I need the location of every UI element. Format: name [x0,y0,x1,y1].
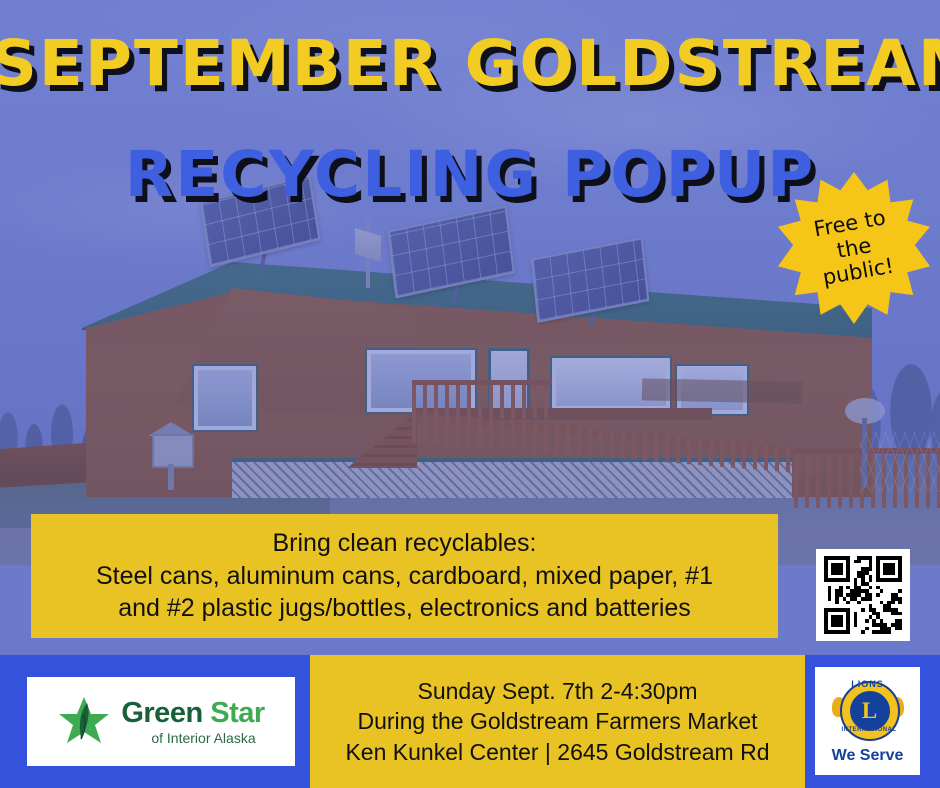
green-star-leaf-icon [57,695,111,749]
lions-bottom-text: INTERNATIONAL [842,727,894,739]
lions-motto: We Serve [832,747,904,765]
recyclables-banner: Bring clean recyclables: Steel cans, alu… [31,514,778,638]
green-star-logo: Green Star of Interior Alaska [27,677,295,766]
recycling-popup-flyer: SEPTEMBER GOLDSTREAM RECYCLING POPUP Fre… [0,0,940,788]
star-word: Star [210,697,264,729]
green-word: Green [121,697,202,729]
green-star-tagline: of Interior Alaska [151,731,264,745]
qr-code[interactable] [824,556,902,634]
event-datetime: Sunday Sept. 7th 2-4:30pm [417,676,697,707]
lions-emblem-icon: LIONS L INTERNATIONAL [834,677,902,745]
banner-line-1: Bring clean recyclables: [272,527,536,560]
banner-line-3: and #2 plastic jugs/bottles, electronics… [118,592,691,625]
event-location: Ken Kunkel Center | 2645 Goldstream Rd [345,737,769,768]
event-info-panel: Sunday Sept. 7th 2-4:30pm During the Gol… [310,655,805,788]
qr-code-container[interactable] [816,549,910,641]
event-context: During the Goldstream Farmers Market [357,706,757,737]
badge-text: Free to the public! [766,160,940,336]
free-to-public-badge: Free to the public! [778,172,930,324]
page-title-line1: SEPTEMBER GOLDSTREAM [0,27,940,100]
badge-line-3: public! [821,254,896,291]
green-star-wordmark: Green Star of Interior Alaska [121,699,264,745]
banner-line-2: Steel cans, aluminum cans, cardboard, mi… [96,560,713,593]
green-star-title: Green Star [121,699,264,728]
lions-club-logo: LIONS L INTERNATIONAL We Serve [815,667,920,775]
